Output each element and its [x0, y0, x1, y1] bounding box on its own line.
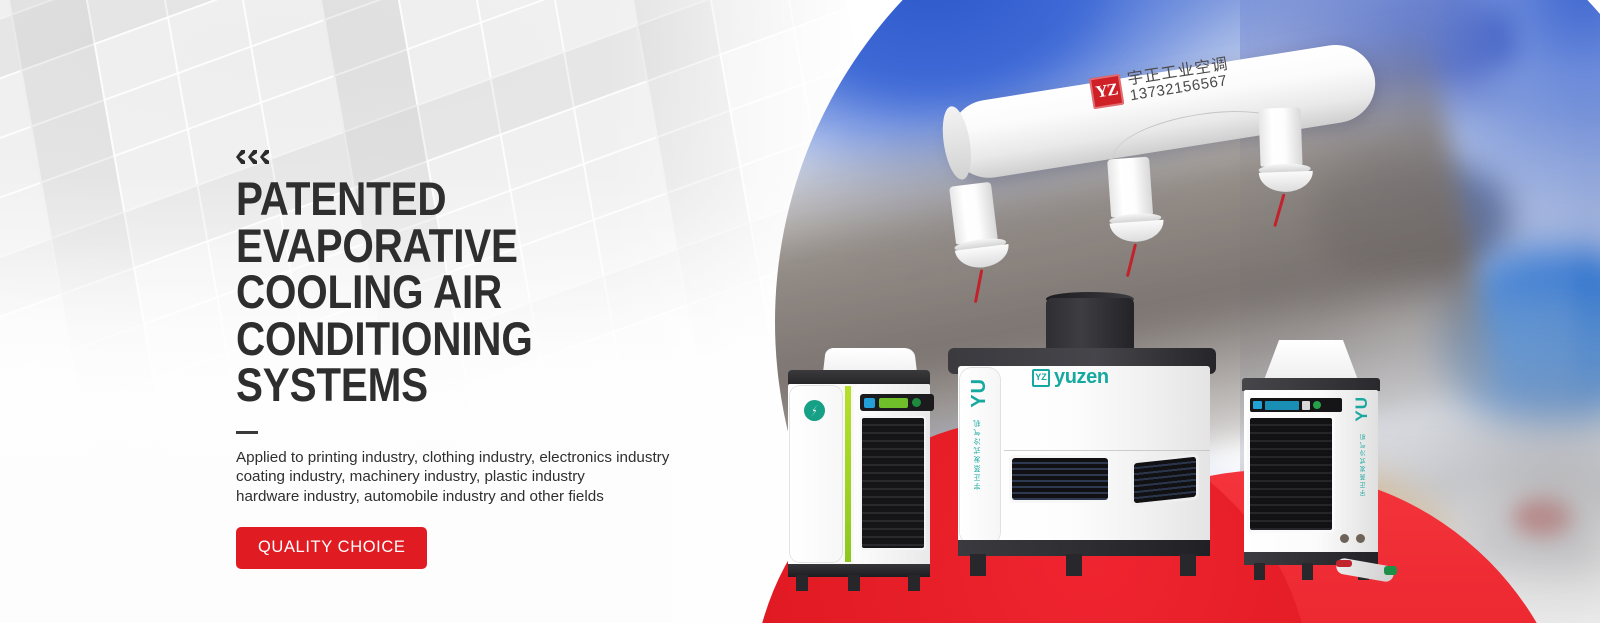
chevron-left-icon	[236, 150, 245, 164]
yz-logo-icon: YZ	[1089, 74, 1124, 109]
chevron-left-icon	[260, 150, 269, 164]
headline-divider	[236, 431, 258, 434]
duct-nozzle	[947, 182, 1003, 271]
description-line: hardware industry, automobile industry a…	[236, 487, 766, 507]
air-duct-assembly: YZ 宇正工业空调 13732156567	[940, 36, 1410, 286]
center-unit-vent-side	[1134, 457, 1196, 504]
right-unit-display	[1250, 398, 1342, 412]
hero-description: Applied to printing industry, clothing i…	[236, 448, 766, 507]
left-unit-grille	[862, 418, 924, 548]
duct-nozzle	[1105, 156, 1157, 243]
duct-nozzle	[1257, 107, 1306, 193]
nozzle-ribbon-icon	[1126, 243, 1137, 277]
quality-choice-button[interactable]: QUALITY CHOICE	[236, 527, 427, 569]
nozzle-ribbon-icon	[1273, 194, 1285, 228]
center-unit-door-cn: 宇正蒸发式冷气机	[972, 418, 982, 490]
center-unit-brand: YZ yuzen	[1032, 366, 1109, 389]
hero-headline: PATENTED EVAPORATIVE COOLING AIR CONDITI…	[236, 176, 692, 409]
chevron-left-icon	[248, 150, 257, 164]
left-unit-display	[860, 394, 934, 411]
left-unit-logo-icon	[804, 400, 825, 421]
center-unit-door-text: YU	[968, 378, 991, 408]
description-line: coating industry, machinery industry, pl…	[236, 467, 766, 487]
duct-main-pipe	[944, 39, 1381, 183]
center-unit-vent-front	[1012, 458, 1108, 500]
right-unit-side-text: YU	[1352, 396, 1372, 422]
yuzen-logo-icon: YZ	[1032, 369, 1050, 387]
description-line: Applied to printing industry, clothing i…	[236, 448, 766, 468]
product-unit-right: YU 宇正蒸发式冷气机	[1240, 340, 1382, 590]
hero-banner: YZ 宇正工业空调 13732156567	[0, 0, 1600, 623]
hero-content: PATENTED EVAPORATIVE COOLING AIR CONDITI…	[236, 150, 766, 569]
center-unit-brand-text: yuzen	[1054, 366, 1109, 389]
product-unit-center: YU 宇正蒸发式冷气机 YZ yuzen	[948, 300, 1216, 590]
right-unit-grille	[1250, 418, 1332, 530]
right-unit-side-cn: 宇正蒸发式冷气机	[1359, 432, 1368, 496]
product-unit-left	[786, 356, 932, 591]
chevron-left-icon-group	[236, 150, 766, 164]
